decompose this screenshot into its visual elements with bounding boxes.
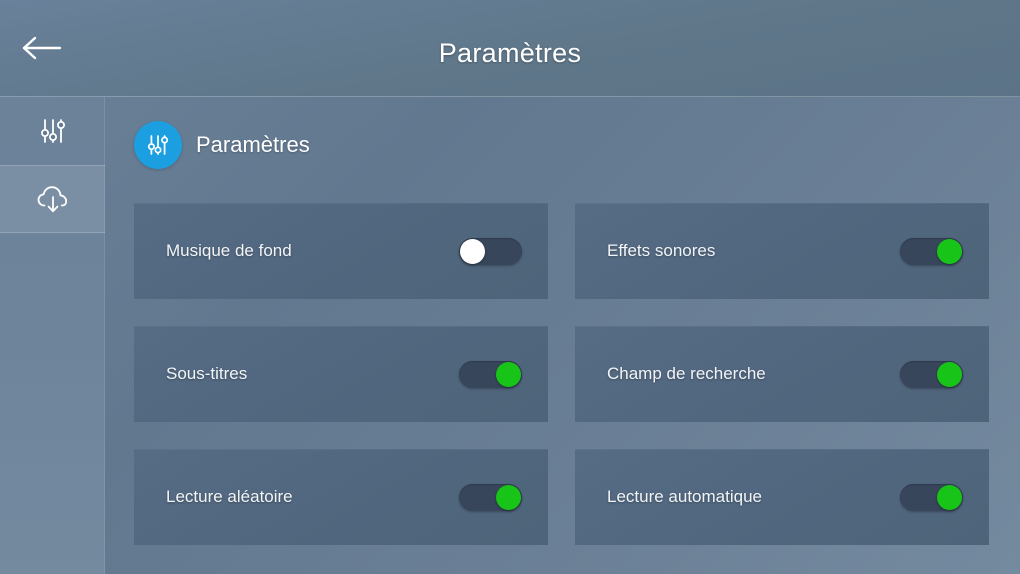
settings-screen: Paramètres <box>0 0 1020 574</box>
setting-card-subtitles[interactable]: Sous-titres <box>134 326 548 422</box>
setting-card-background-music[interactable]: Musique de fond <box>134 203 548 299</box>
setting-card-search-field[interactable]: Champ de recherche <box>575 326 989 422</box>
toggle-knob <box>496 485 521 510</box>
toggle-knob <box>937 485 962 510</box>
setting-card-shuffle-play[interactable]: Lecture aléatoire <box>134 449 548 545</box>
app-header: Paramètres <box>0 0 1020 97</box>
toggle-sound-effects[interactable] <box>900 238 963 265</box>
cloud-download-icon <box>35 182 71 216</box>
toggle-knob <box>937 239 962 264</box>
setting-card-autoplay[interactable]: Lecture automatique <box>575 449 989 545</box>
toggle-search-field[interactable] <box>900 361 963 388</box>
sliders-icon <box>36 114 70 148</box>
settings-grid: Musique de fond Effets sonores Sous-titr… <box>134 203 988 545</box>
section-header: Paramètres <box>134 121 310 169</box>
sidebar-item-settings[interactable] <box>0 97 105 165</box>
toggle-background-music[interactable] <box>459 238 522 265</box>
content-area: Paramètres Musique de fond Effets sonore… <box>106 97 1020 574</box>
sidebar <box>0 97 105 574</box>
page-title: Paramètres <box>0 38 1020 69</box>
toggle-subtitles[interactable] <box>459 361 522 388</box>
setting-label: Musique de fond <box>166 241 292 261</box>
toggle-knob <box>937 362 962 387</box>
toggle-knob <box>460 239 485 264</box>
setting-label: Champ de recherche <box>607 364 766 384</box>
section-title: Paramètres <box>196 132 310 158</box>
setting-label: Effets sonores <box>607 241 715 261</box>
setting-label: Sous-titres <box>166 364 247 384</box>
sidebar-item-downloads[interactable] <box>0 165 105 233</box>
section-sliders-icon <box>134 121 182 169</box>
setting-label: Lecture automatique <box>607 487 762 507</box>
setting-card-sound-effects[interactable]: Effets sonores <box>575 203 989 299</box>
toggle-shuffle-play[interactable] <box>459 484 522 511</box>
toggle-autoplay[interactable] <box>900 484 963 511</box>
toggle-knob <box>496 362 521 387</box>
setting-label: Lecture aléatoire <box>166 487 293 507</box>
